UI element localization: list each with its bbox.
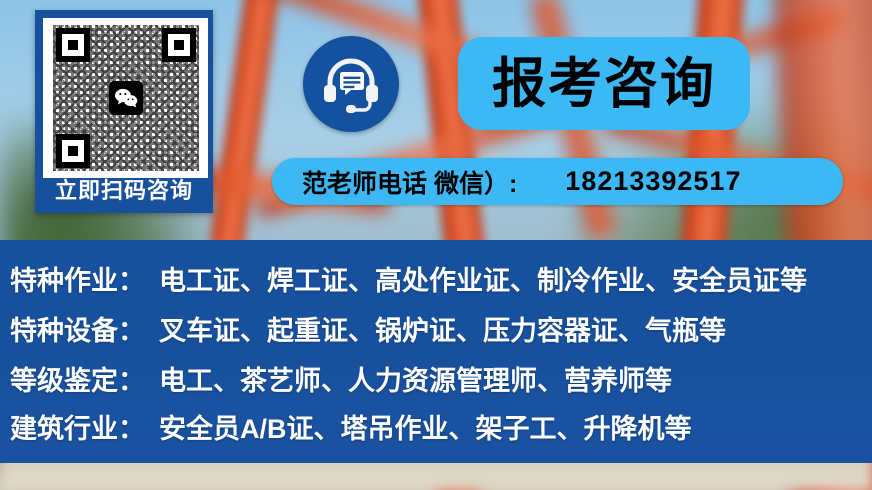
qr-finder-top-left [56, 28, 90, 62]
category-label: 特种设备： [10, 316, 145, 346]
title-pill: 报考咨询 [458, 37, 750, 130]
category-items: 叉车证、起重证、锅炉证、压力容器证、气瓶等 [159, 316, 726, 346]
page-title: 报考咨询 [492, 57, 716, 111]
category-items: 安全员A/B证、塔吊作业、架子工、升降机等 [159, 414, 692, 444]
category-row-special-operations: 特种作业：电工证、焊工证、高处作业证、制冷作业、安全员证等 [10, 259, 807, 298]
category-items: 电工、茶艺师、人力资源管理师、营养师等 [159, 366, 672, 396]
qr-card[interactable]: 立即扫码咨询 [35, 10, 213, 213]
category-label: 建筑行业： [10, 414, 145, 444]
category-row-grade-assessment: 等级鉴定：电工、茶艺师、人力资源管理师、营养师等 [10, 359, 672, 398]
headset-support-icon [303, 36, 399, 132]
category-panel: 特种作业：电工证、焊工证、高处作业证、制冷作业、安全员证等 特种设备：叉车证、起… [0, 240, 872, 463]
category-row-construction-industry: 建筑行业：安全员A/B证、塔吊作业、架子工、升降机等 [10, 407, 692, 446]
qr-code-area [43, 18, 208, 178]
category-items: 电工证、焊工证、高处作业证、制冷作业、安全员证等 [159, 266, 807, 296]
qr-finder-bottom-left [56, 134, 90, 168]
contact-label: 范老师电话 微信）: [302, 164, 517, 200]
promo-poster: 立即扫码咨询 报考咨询 范老师电话 微信）: 18213392517 特种作业：… [0, 0, 872, 490]
wechat-icon [109, 81, 143, 115]
category-row-special-equipment: 特种设备：叉车证、起重证、锅炉证、压力容器证、气瓶等 [10, 309, 726, 348]
qr-caption: 立即扫码咨询 [38, 176, 210, 206]
qr-finder-top-right [162, 28, 196, 62]
qr-code-image [53, 25, 199, 171]
crane-beam [772, 0, 872, 273]
contact-phone-number[interactable]: 18213392517 [565, 166, 741, 197]
contact-pill[interactable]: 范老师电话 微信）: 18213392517 [272, 158, 843, 205]
category-label: 等级鉴定： [10, 366, 145, 396]
category-label: 特种作业： [10, 266, 145, 296]
